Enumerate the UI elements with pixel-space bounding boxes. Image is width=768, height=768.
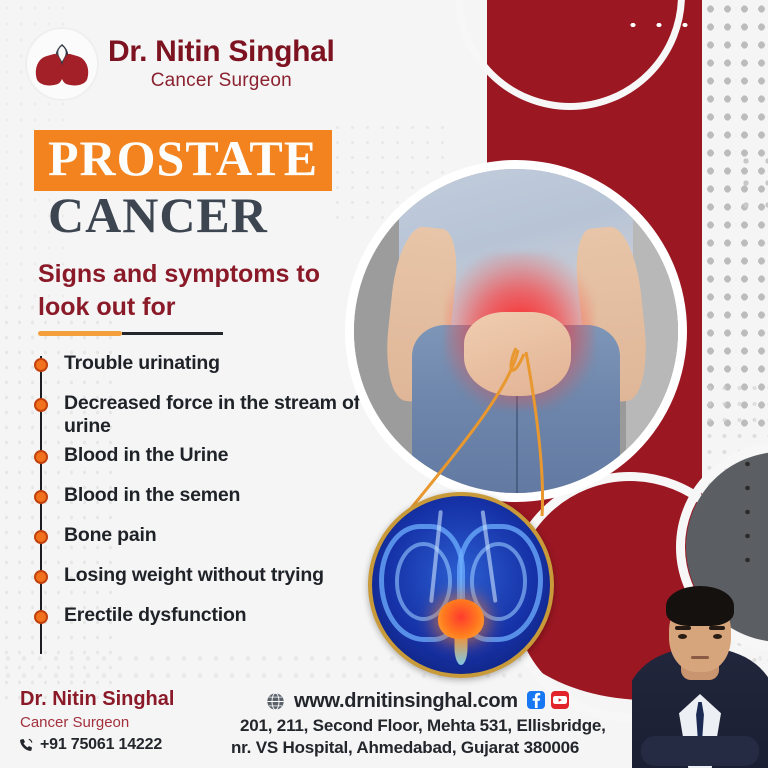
- groin-pain-photo: [354, 169, 678, 493]
- bullet-dot-icon: [34, 610, 48, 624]
- logo-icon: [26, 28, 98, 100]
- bullet-dot-icon: [34, 490, 48, 504]
- youtube-icon[interactable]: [551, 691, 569, 709]
- list-item-label: Trouble urinating: [64, 352, 220, 375]
- list-item-label: Bone pain: [64, 524, 156, 547]
- list-item: Decreased force in the stream of urine: [26, 392, 376, 438]
- portrait-eye-right: [713, 634, 722, 639]
- footer: Dr. Nitin Singhal Cancer Surgeon +91 750…: [0, 688, 768, 768]
- portrait-brow-left: [675, 626, 691, 630]
- list-item: Bone pain: [26, 524, 376, 558]
- bullet-dot-icon: [34, 570, 48, 584]
- headline-cancer: CANCER: [48, 186, 268, 244]
- list-item: Trouble urinating: [26, 352, 376, 386]
- portrait-eye-left: [678, 634, 687, 639]
- list-item-label: Blood in the Urine: [64, 444, 228, 467]
- subtitle: Signs and symptoms to look out for: [38, 258, 358, 325]
- bullet-dot-icon: [34, 530, 48, 544]
- poster: Dr. Nitin Singhal Cancer Surgeon PROSTAT…: [0, 0, 768, 768]
- bullet-dot-icon: [34, 398, 48, 412]
- brand-tagline: Cancer Surgeon: [108, 70, 335, 92]
- list-item: Losing weight without trying: [26, 564, 376, 598]
- brand-name: Dr. Nitin Singhal: [108, 36, 335, 68]
- main-photo: [345, 160, 687, 502]
- footer-website[interactable]: www.drnitinsinghal.com: [294, 690, 518, 713]
- social-links: [527, 691, 569, 709]
- footer-name: Dr. Nitin Singhal: [20, 688, 174, 711]
- photo-hands: [464, 312, 571, 396]
- anatomy-illustration: [372, 496, 550, 674]
- list-item-label: Losing weight without trying: [64, 564, 324, 587]
- list-item: Erectile dysfunction: [26, 604, 376, 638]
- list-item-label: Decreased force in the stream of urine: [64, 392, 376, 438]
- bullet-dot-icon: [34, 358, 48, 372]
- prostate-anatomy-inset: [368, 492, 554, 678]
- list-item-label: Erectile dysfunction: [64, 604, 246, 627]
- bullet-dot-icon: [34, 450, 48, 464]
- brand-header: Dr. Nitin Singhal Cancer Surgeon: [26, 28, 335, 100]
- facebook-icon[interactable]: [527, 691, 545, 709]
- symptom-list: Trouble urinating Decreased force in the…: [26, 352, 376, 644]
- prostate-gland-highlight: [438, 599, 484, 639]
- portrait-mouth: [691, 656, 709, 659]
- divider: [38, 331, 223, 336]
- headline-prostate: PROSTATE: [34, 130, 332, 191]
- portrait-brow-right: [709, 626, 725, 630]
- phone-icon: [18, 737, 34, 753]
- gray-dot-grid-right: [735, 150, 768, 220]
- footer-address-line2: nr. VS Hospital, Ahmedabad, Gujarat 3800…: [231, 738, 579, 758]
- globe-icon: [266, 692, 285, 711]
- footer-phone[interactable]: +91 75061 14222: [40, 736, 162, 754]
- list-item-label: Blood in the semen: [64, 484, 240, 507]
- footer-address-line1: 201, 211, Second Floor, Mehta 531, Ellis…: [240, 716, 606, 736]
- list-item: Blood in the semen: [26, 484, 376, 518]
- portrait-hair: [666, 586, 734, 626]
- dark-dot-grid-right: [735, 452, 768, 572]
- list-item: Blood in the Urine: [26, 444, 376, 478]
- divider-orange: [38, 331, 122, 336]
- divider-dark: [122, 332, 223, 335]
- footer-role: Cancer Surgeon: [20, 714, 129, 731]
